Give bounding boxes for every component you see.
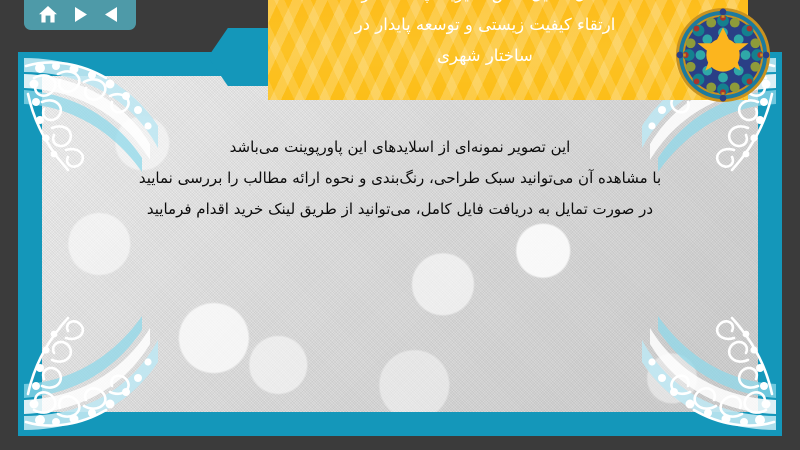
body-line-1: این تصویر نمونه‌ای از اسلایدهای این پاور… — [76, 132, 724, 163]
navigation-bar — [24, 0, 136, 30]
home-icon — [38, 5, 58, 24]
body-line-2: با مشاهده آن می‌توانید سبک طراحی، رنگ‌بن… — [76, 163, 724, 194]
persian-medallion-icon — [674, 6, 772, 104]
back-button[interactable] — [99, 3, 125, 25]
slide-frame: این تصویر نمونه‌ای از اسلایدهای این پاور… — [18, 52, 782, 436]
slide-body-text: این تصویر نمونه‌ای از اسلایدهای این پاور… — [42, 132, 758, 225]
slide-stage: این تصویر نمونه‌ای از اسلایدهای این پاور… — [0, 0, 800, 450]
body-line-3: در صورت تمایل به دریافت فایل کامل، می‌تو… — [76, 194, 724, 225]
triangle-left-icon — [104, 6, 120, 23]
slide-content-panel: این تصویر نمونه‌ای از اسلایدهای این پاور… — [42, 76, 758, 412]
forward-button[interactable] — [67, 3, 93, 25]
triangle-right-icon — [72, 6, 88, 23]
home-button[interactable] — [35, 3, 61, 25]
